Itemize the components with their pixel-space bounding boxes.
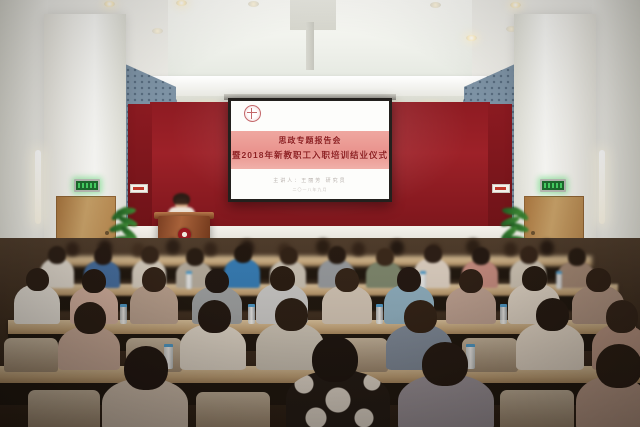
audience-head: [142, 267, 166, 292]
audience-head: [124, 346, 168, 390]
can-light: [248, 1, 259, 7]
can-light: [152, 28, 163, 34]
audience-head: [26, 268, 49, 291]
slide-title-band: 思政专题报告会 暨2018年新教职工入职培训结业仪式: [231, 131, 389, 168]
wall-panel-far-left: [0, 0, 48, 262]
audience-head: [520, 246, 538, 264]
audience-head: [376, 248, 394, 266]
audience-head: [205, 269, 229, 293]
can-light: [176, 0, 187, 6]
wall-notice-plate-left: [130, 184, 148, 193]
water-bottle: [120, 304, 127, 324]
audience-head: [186, 248, 204, 266]
water-bottle: [556, 271, 562, 289]
audience-head: [504, 242, 517, 256]
audience-head: [522, 266, 547, 291]
chair-back[interactable]: [500, 390, 574, 427]
audience-head: [275, 298, 308, 331]
slide-title-line1: 思政专题报告会: [231, 135, 389, 146]
can-light: [466, 35, 477, 41]
projection-screen: 思政专题报告会 暨2018年新教职工入职培训结业仪式 主讲人：王丽芳 研究员 二…: [228, 98, 392, 202]
slide-footer: 主讲人：王丽芳 研究员 二〇一八年九月: [231, 169, 389, 199]
vertical-light-strip: [599, 150, 605, 224]
slide-footnote: 二〇一八年九月: [231, 187, 389, 193]
audience-head: [397, 267, 421, 292]
audience-head: [166, 239, 180, 254]
chair-back[interactable]: [28, 390, 100, 427]
audience-head: [335, 268, 359, 292]
chair-back[interactable]: [4, 338, 58, 372]
lecture-hall-photo: 思政专题报告会 暨2018年新教职工入职培训结业仪式 主讲人：王丽芳 研究员 二…: [0, 0, 640, 427]
audience-head: [94, 247, 112, 265]
audience-head: [540, 240, 554, 255]
audience-head: [74, 302, 106, 334]
slide-subtitle: 主讲人：王丽芳 研究员: [231, 177, 389, 184]
audience-head: [234, 245, 252, 263]
audience-head: [328, 246, 346, 264]
slide-title-line2: 暨2018年新教职工入职培训结业仪式: [231, 149, 389, 161]
ceiling-duct: [306, 22, 314, 70]
emergency-exit-sign-right: [540, 179, 566, 192]
audience-head: [536, 298, 569, 331]
audience-head: [404, 300, 437, 333]
chair-back[interactable]: [196, 392, 270, 427]
audience-head: [352, 242, 365, 256]
audience-head: [424, 245, 442, 263]
emergency-exit-sign-left: [74, 179, 100, 192]
audience-head: [82, 269, 106, 293]
water-bottle: [376, 304, 383, 324]
audience-head: [280, 247, 298, 265]
audience-head: [66, 242, 79, 256]
audience-head: [198, 300, 231, 333]
audience-head: [586, 268, 611, 292]
audience-head: [472, 247, 490, 265]
water-bottle: [500, 304, 507, 324]
audience-head: [270, 266, 295, 291]
can-light: [510, 2, 521, 8]
audience-head: [606, 300, 638, 333]
audience-head: [141, 246, 159, 264]
water-bottle: [248, 304, 255, 324]
audience-head: [312, 336, 358, 382]
audience-head: [568, 248, 586, 266]
audience-head: [204, 242, 217, 256]
wall-notice-plate-right: [492, 184, 510, 193]
university-crest-logo: [244, 105, 261, 122]
slide-header: [231, 101, 389, 131]
audience-head: [596, 344, 640, 388]
audience-area: [0, 238, 640, 427]
audience-head: [422, 342, 468, 386]
can-light: [104, 1, 115, 7]
slide-surface: 思政专题报告会 暨2018年新教职工入职培训结业仪式 主讲人：王丽芳 研究员 二…: [231, 101, 389, 199]
audience-head: [459, 269, 483, 293]
audience-head: [48, 246, 66, 264]
can-light: [430, 2, 441, 8]
vertical-light-strip: [35, 150, 41, 224]
water-bottle: [186, 271, 192, 289]
